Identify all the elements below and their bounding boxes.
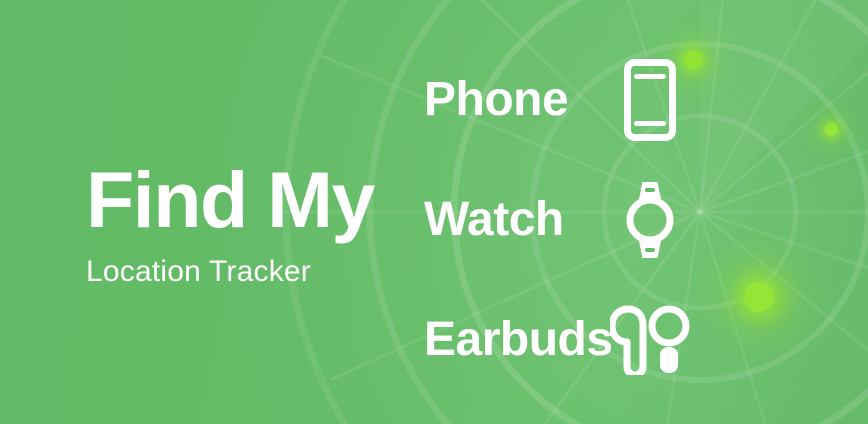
feature-label-earbuds: Earbuds	[424, 316, 613, 364]
feature-list: Phone Watch	[424, 52, 724, 412]
find-my-banner: Find My Location Tracker Phone Watch	[0, 0, 868, 424]
smartphone-icon	[608, 54, 692, 146]
radar-sweep	[700, 0, 868, 212]
radar-blip-2	[825, 123, 838, 136]
feature-label-watch: Watch	[424, 196, 564, 244]
radar-blip-3	[744, 282, 774, 312]
feature-label-phone: Phone	[424, 76, 568, 124]
feature-row-earbuds[interactable]: Earbuds	[424, 292, 724, 388]
feature-row-watch[interactable]: Watch	[424, 172, 724, 268]
feature-row-phone[interactable]: Phone	[424, 52, 724, 148]
smartwatch-icon	[608, 174, 692, 266]
brand-block: Find My Location Tracker	[86, 160, 374, 287]
app-title: Find My	[86, 160, 374, 239]
earbuds-icon	[608, 294, 692, 386]
app-subtitle: Location Tracker	[86, 257, 374, 287]
